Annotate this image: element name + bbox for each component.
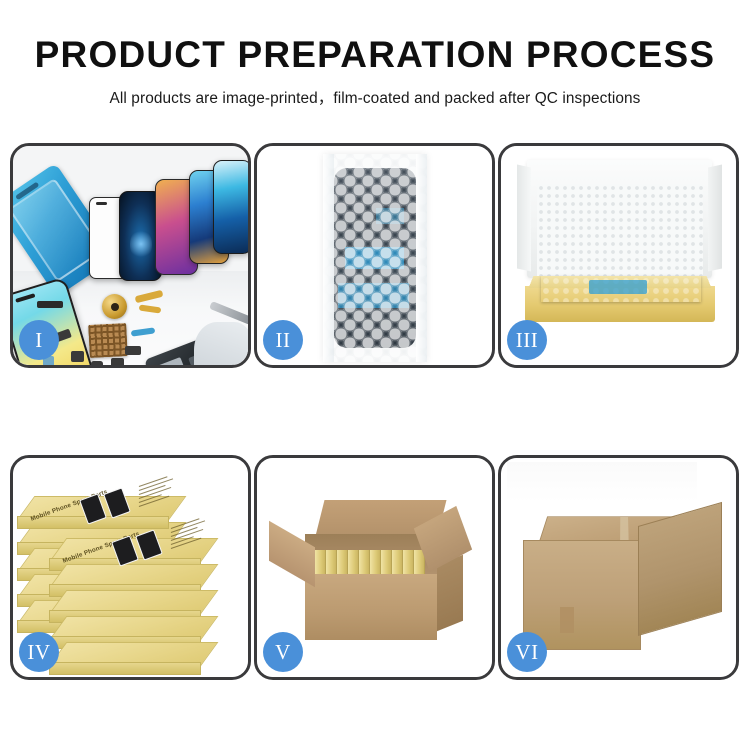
small-part-5	[125, 346, 141, 355]
small-part-2	[71, 351, 84, 362]
wrap-seal-left	[323, 154, 334, 362]
small-part-4	[111, 358, 124, 365]
step-badge-2: II	[263, 320, 303, 360]
process-step-panel-4[interactable]: Mobile Phone Spare Parts Mobile Phone Sp…	[10, 455, 251, 680]
process-step-panel-3[interactable]: III	[498, 143, 739, 368]
page-title: PRODUCT PREPARATION PROCESS	[0, 36, 750, 75]
process-step-panel-1[interactable]: I	[10, 143, 251, 368]
step-badge-4: IV	[19, 632, 59, 672]
speaker-coil-part	[102, 294, 127, 319]
carton-handle-tab-top	[560, 607, 574, 633]
wrap-seal-right	[416, 154, 427, 362]
phone-screen-teal	[213, 160, 248, 254]
process-step-panel-2[interactable]: II	[254, 143, 495, 368]
small-part-3	[91, 361, 103, 365]
earpiece-part	[37, 301, 63, 308]
carton-front-face	[523, 540, 641, 650]
retail-box	[49, 642, 199, 672]
box-print-spec-lines	[171, 528, 213, 552]
process-step-grid: I II	[10, 143, 740, 680]
carton-side-face	[437, 555, 463, 632]
bubble-texture	[323, 154, 427, 362]
open-shipping-carton	[291, 498, 463, 646]
foam-lining	[537, 184, 703, 276]
carton-front-face	[305, 574, 437, 640]
bubble-wrap-sleeve	[323, 154, 427, 362]
step-badge-5: V	[263, 632, 303, 672]
sealed-shipping-carton	[519, 486, 723, 656]
process-step-panel-5[interactable]: V	[254, 455, 495, 680]
process-step-panel-6[interactable]: VI	[498, 455, 739, 680]
carton-right-face	[638, 502, 722, 636]
page-header: PRODUCT PREPARATION PROCESS All products…	[0, 0, 750, 108]
page-subtitle: All products are image-printed，film-coat…	[0, 86, 750, 108]
hand-holding-part	[194, 322, 248, 365]
box-print-spec-lines	[139, 486, 181, 510]
kraft-box-base	[525, 270, 715, 322]
packed-product	[541, 276, 701, 302]
chip-grid-part	[88, 323, 128, 358]
step-badge-1: I	[19, 320, 59, 360]
step-badge-3: III	[507, 320, 547, 360]
step-badge-6: VI	[507, 632, 547, 672]
